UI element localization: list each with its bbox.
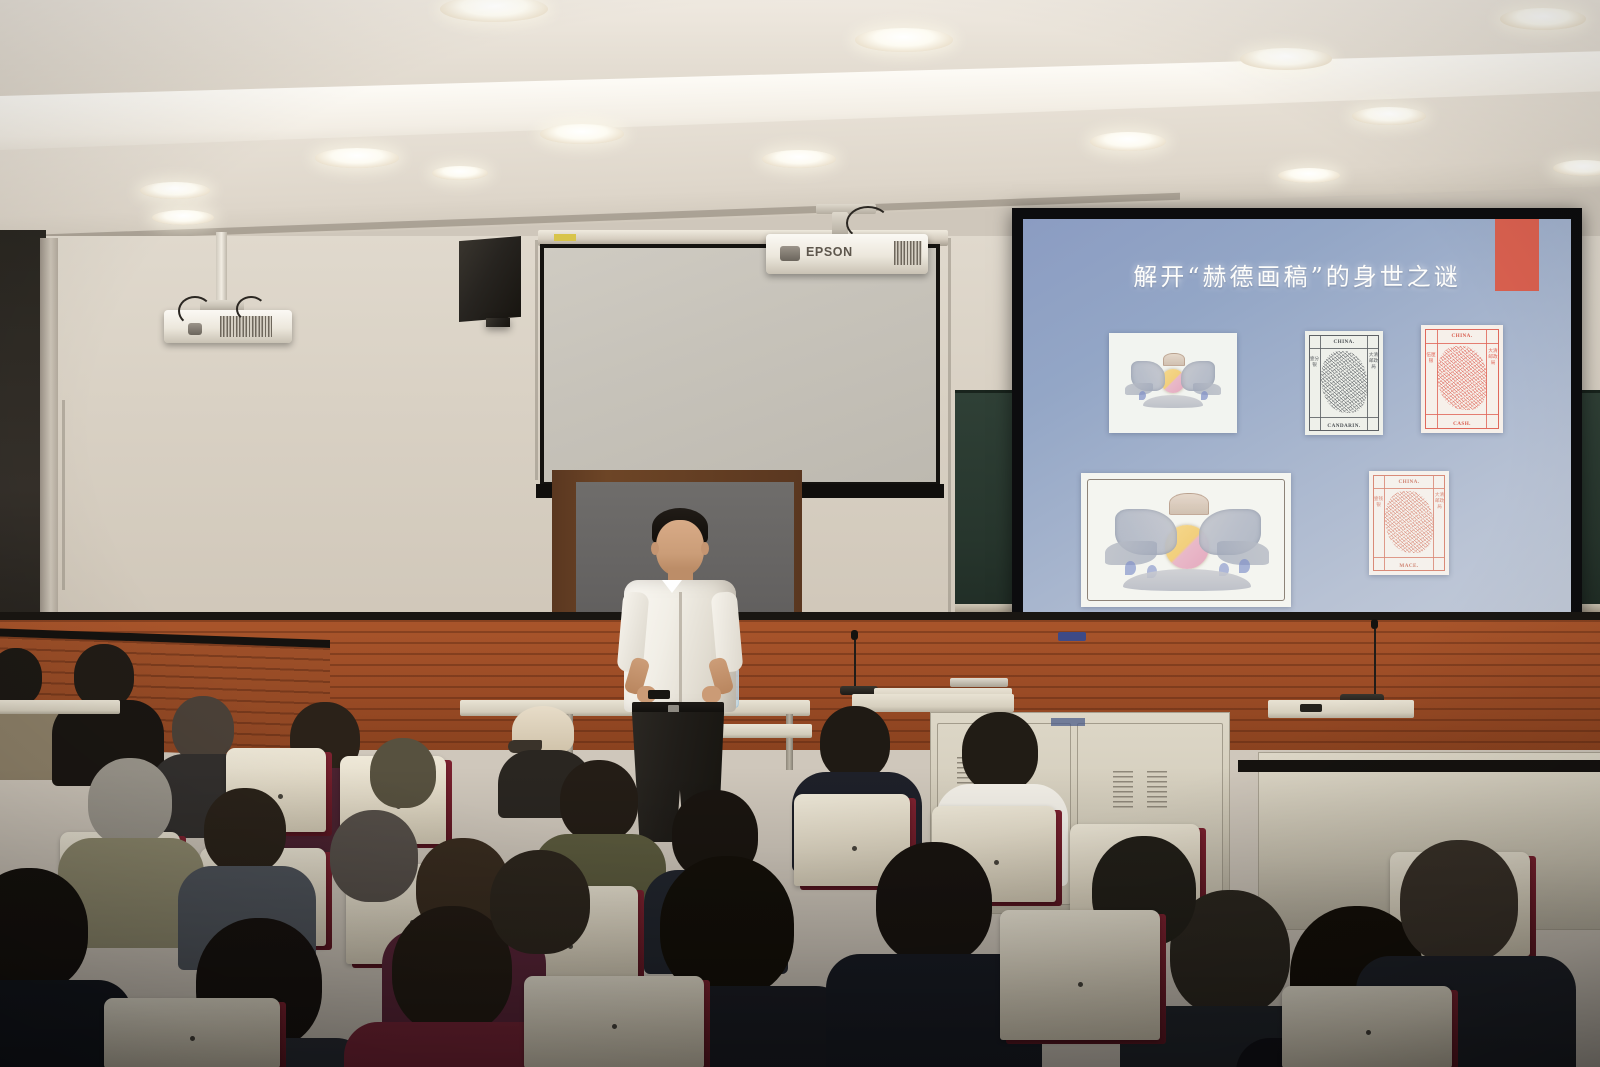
stamp-bottom-label: CANDARIN. <box>1305 423 1383 429</box>
head <box>370 738 436 808</box>
projector-lens <box>780 246 800 261</box>
projector-brand-label: EPSON <box>806 245 853 259</box>
stamp-cjk-right: 大清邮政局 <box>1434 493 1445 511</box>
slide-image-stamp-1mace: CHINA. MACE. 1 1 壹钱银 大清邮政局 <box>1369 471 1449 575</box>
presentation-slide: 解开“赫德画稿”的身世之谜 <box>1023 219 1571 617</box>
ceiling-light <box>1352 107 1426 125</box>
podium-laptop[interactable] <box>950 678 1008 687</box>
slide-image-crest-small <box>1109 333 1237 433</box>
stamp-top-label: CHINA. <box>1369 479 1449 485</box>
ceiling-light <box>432 166 488 180</box>
stamp-cjk-right: 大清邮政局 <box>1368 353 1379 371</box>
ceiling-light <box>1090 132 1166 151</box>
podium-mic-stem <box>854 640 856 688</box>
wall-speaker <box>459 236 521 322</box>
head <box>876 842 992 964</box>
seat-screw <box>612 1024 617 1029</box>
podium-vent <box>1113 771 1133 811</box>
projector-pole-mount <box>216 232 227 308</box>
presenter-hand-right <box>702 686 721 703</box>
seat-back[interactable] <box>524 976 704 1067</box>
seat-back[interactable] <box>1000 910 1160 1040</box>
seat-screw <box>278 794 283 799</box>
stamp-bottom-label: CASH. <box>1421 421 1503 427</box>
stamp-cjk-left: 壹钱银 <box>1373 497 1384 509</box>
seat-screw <box>1366 1030 1371 1035</box>
stamp-top-label: CHINA. <box>1305 339 1383 345</box>
head <box>560 760 638 842</box>
head <box>1400 840 1518 964</box>
side-mic-head <box>1371 619 1378 629</box>
housing-sticker <box>554 234 576 241</box>
table-leg <box>786 714 793 770</box>
speaker-bracket <box>486 318 510 327</box>
presentation-clicker[interactable] <box>648 690 670 699</box>
flame-motif <box>1125 561 1136 575</box>
projector-vent <box>894 241 922 265</box>
flame-motif <box>1239 559 1250 573</box>
ceiling-light <box>1500 8 1586 30</box>
ceiling-light <box>315 148 399 168</box>
wall-seam <box>948 238 951 618</box>
projector-cable <box>236 296 266 322</box>
stamp-bottom-label: MACE. <box>1369 563 1449 569</box>
seat-back[interactable] <box>104 998 280 1067</box>
slide-title: 解开“赫德画稿”的身世之谜 <box>1023 257 1571 292</box>
head <box>204 788 286 874</box>
seat-screw <box>994 860 999 865</box>
lecture-hall-photo: 解开“赫德画稿”的身世之谜 <box>0 0 1600 1067</box>
podium-badge <box>1051 718 1085 726</box>
slide-image-stamp-candarin: CHINA. CANDARIN. 1 1 壹分银 大清邮政局 <box>1305 331 1383 435</box>
head <box>172 696 234 762</box>
ceiling-light <box>140 182 210 199</box>
chalkboard-eraser[interactable] <box>1058 632 1086 641</box>
slide-image-crest-large <box>1081 473 1291 607</box>
podium-vent <box>1147 771 1167 811</box>
stamp-cjk-right: 大清邮政局 <box>1487 349 1499 367</box>
flame-motif <box>1201 391 1208 400</box>
head <box>330 810 418 902</box>
head <box>962 712 1038 792</box>
podium-shelf <box>852 694 1014 712</box>
ceiling-light <box>855 28 953 52</box>
side-mic-stem <box>1374 629 1376 697</box>
side-desk-top <box>1268 700 1414 718</box>
slide-image-stamp-5cash: CHINA. CASH. 5 5 伍厘银 大清邮政局 <box>1421 325 1503 433</box>
presenter-shirt-placket <box>679 592 682 708</box>
ceiling-light <box>762 150 836 168</box>
side-table-left <box>0 700 120 714</box>
head <box>0 648 42 706</box>
ceiling-light <box>1278 168 1340 183</box>
head <box>490 850 590 954</box>
blank-projection-screen <box>540 244 940 486</box>
ceiling-light <box>540 124 624 144</box>
stamp-top-label: CHINA. <box>1421 333 1503 339</box>
seat-screw <box>190 1036 195 1041</box>
side-desk-phone[interactable] <box>1300 704 1322 712</box>
head <box>820 706 890 780</box>
ceiling-light <box>1240 48 1332 70</box>
wall-seam <box>535 240 538 480</box>
ceiling-light <box>152 210 214 225</box>
seat-screw <box>852 846 857 851</box>
seat-back[interactable] <box>1282 986 1452 1067</box>
main-projection-screen: 解开“赫德画稿”的身世之谜 <box>1012 208 1582 628</box>
head <box>88 758 172 846</box>
flame-motif <box>1139 391 1146 400</box>
seat-screw <box>1078 982 1083 987</box>
stamp-cjk-left: 伍厘银 <box>1425 353 1437 365</box>
wall-pillar <box>40 238 58 668</box>
side-desk-front <box>1238 760 1600 772</box>
ceiling-projector-epson: EPSON <box>766 234 928 274</box>
head <box>74 644 134 708</box>
stamp-cjk-left: 壹分银 <box>1309 357 1320 369</box>
presenter-ear <box>701 542 709 555</box>
presenter-belt-buckle <box>668 705 679 713</box>
wall-seam <box>62 400 65 590</box>
presenter-ear <box>651 542 659 555</box>
projector-cable <box>178 296 212 326</box>
podium-mic-head <box>851 630 858 640</box>
